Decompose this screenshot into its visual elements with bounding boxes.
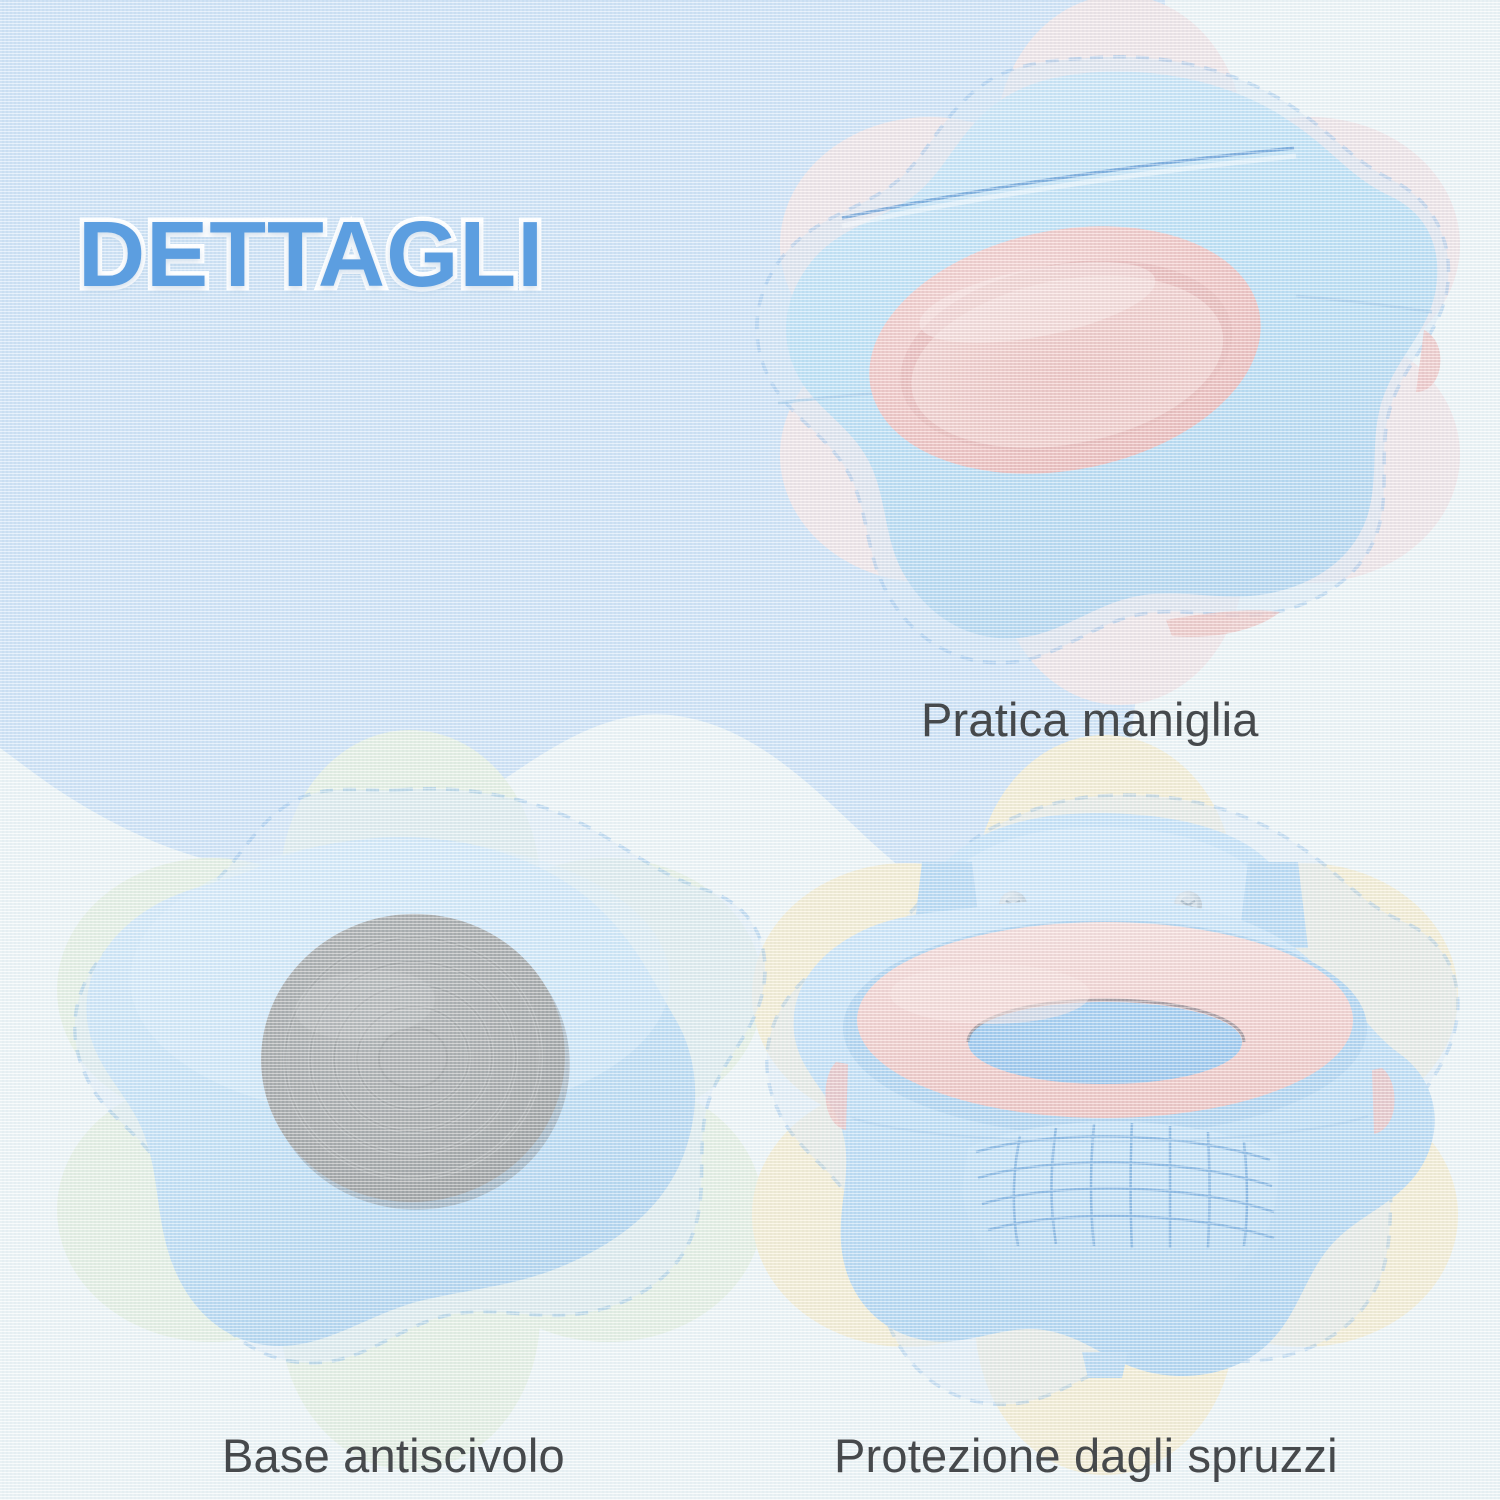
title-block: DETTAGLI [78,206,544,304]
caption-pratica-maniglia: Pratica maniglia [921,692,1259,747]
page-title: DETTAGLI [78,206,544,304]
product-detail-infographic: DETTAGLI Pratica maniglia Base antiscivo… [0,0,1500,1500]
text-layer: DETTAGLI Pratica maniglia Base antiscivo… [0,0,1500,1500]
caption-base-antiscivolo: Base antiscivolo [222,1428,565,1483]
caption-protezione-dagli-spruzzi: Protezione dagli spruzzi [834,1428,1338,1483]
